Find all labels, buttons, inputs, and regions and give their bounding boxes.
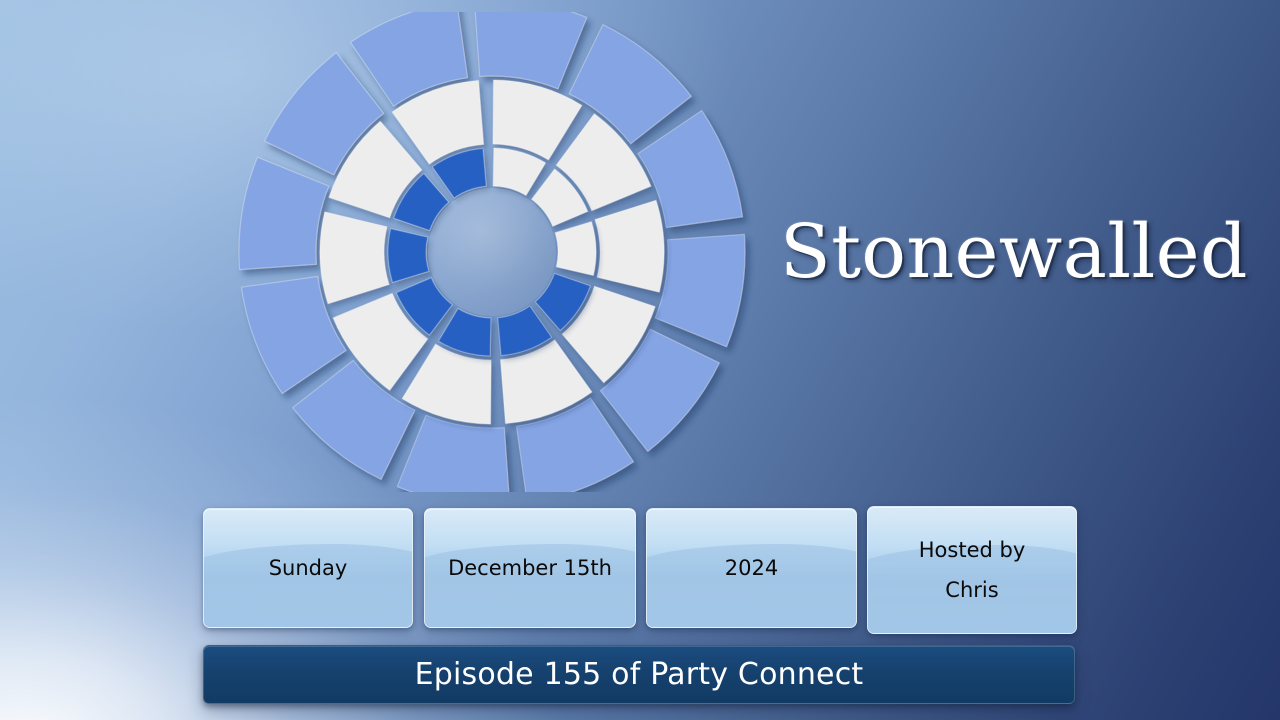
year-card-label: 2024 — [725, 548, 778, 588]
inner-ring-segment — [555, 222, 596, 276]
middle-ring-segment — [595, 200, 664, 292]
outer-ring-segment — [239, 157, 329, 269]
wheel-hub — [428, 188, 556, 316]
wheel-graphic — [222, 12, 762, 492]
episode-banner-label: Episode 155 of Party Connect — [415, 657, 864, 692]
outer-ring-segment — [397, 415, 509, 492]
page-title: Stonewalled — [780, 206, 1240, 298]
host-card-label: Hosted by Chris — [919, 530, 1026, 610]
date-card-label: December 15th — [448, 548, 612, 588]
outer-ring-segment — [474, 12, 586, 89]
outer-ring-segment — [655, 234, 745, 346]
year-card[interactable]: 2024 — [646, 508, 857, 628]
episode-banner[interactable]: Episode 155 of Party Connect — [203, 645, 1075, 704]
inner-ring-segment — [493, 148, 545, 195]
presentation-slide: Stonewalled Sunday December 15th 2024 Ho… — [0, 0, 1280, 720]
segmented-donut-wheel-icon — [222, 12, 762, 492]
date-card[interactable]: December 15th — [424, 508, 636, 628]
middle-ring-segment — [320, 212, 389, 304]
weekday-card[interactable]: Sunday — [203, 508, 413, 628]
inner-ring-segment — [438, 309, 490, 356]
info-card-row: Sunday December 15th 2024 Hosted by Chri… — [203, 508, 1075, 630]
weekday-card-label: Sunday — [269, 548, 348, 588]
host-card[interactable]: Hosted by Chris — [867, 506, 1077, 634]
inner-ring-segment — [388, 229, 429, 283]
